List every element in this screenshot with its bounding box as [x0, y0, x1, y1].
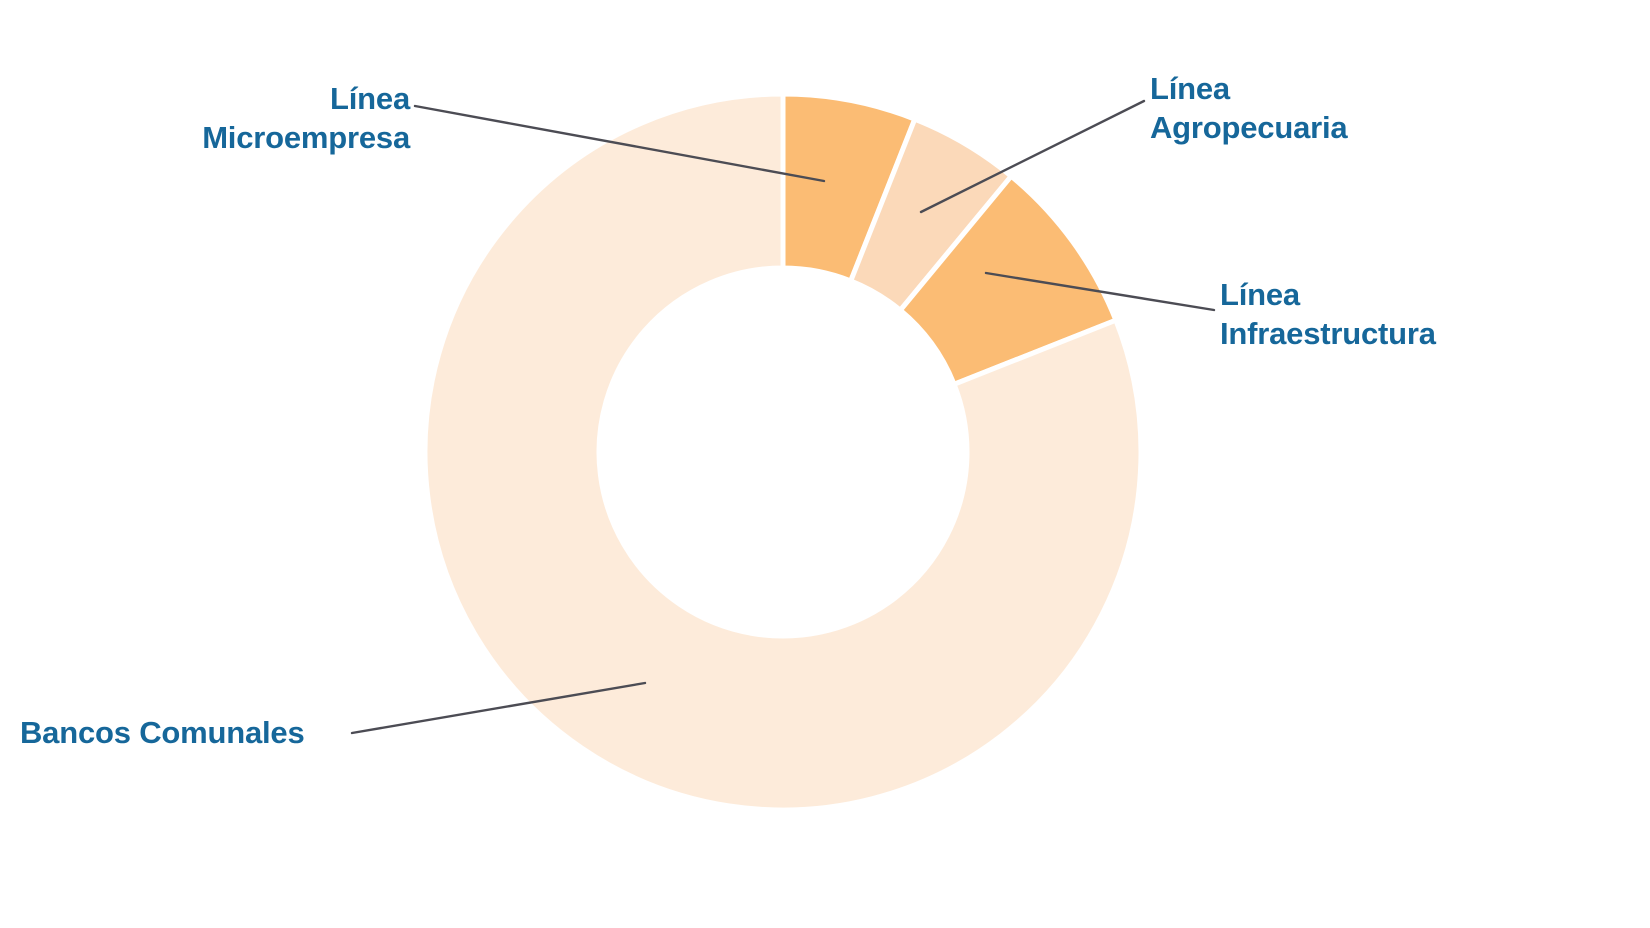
slice-label-microempresa-line1: Línea [330, 81, 410, 116]
slice-label-microempresa: LíneaMicroempresa [90, 80, 410, 158]
chart-canvas: LíneaMicroempresa LíneaAgropecuaria Líne… [0, 0, 1650, 928]
slice-label-infraestructura: LíneaInfraestructura [1220, 276, 1560, 354]
slice-label-infraestructura-line2: Infraestructura [1220, 316, 1436, 351]
slice-label-infraestructura-line1: Línea [1220, 277, 1300, 312]
slice-label-microempresa-line2: Microempresa [202, 120, 410, 155]
slice-label-bancos-comunales-line1: Bancos Comunales [20, 715, 305, 750]
slice-label-agropecuaria-line1: Línea [1150, 71, 1230, 106]
slice-label-bancos-comunales: Bancos Comunales [20, 714, 350, 753]
slice-label-agropecuaria: LíneaAgropecuaria [1150, 70, 1480, 148]
slice-label-agropecuaria-line2: Agropecuaria [1150, 110, 1347, 145]
